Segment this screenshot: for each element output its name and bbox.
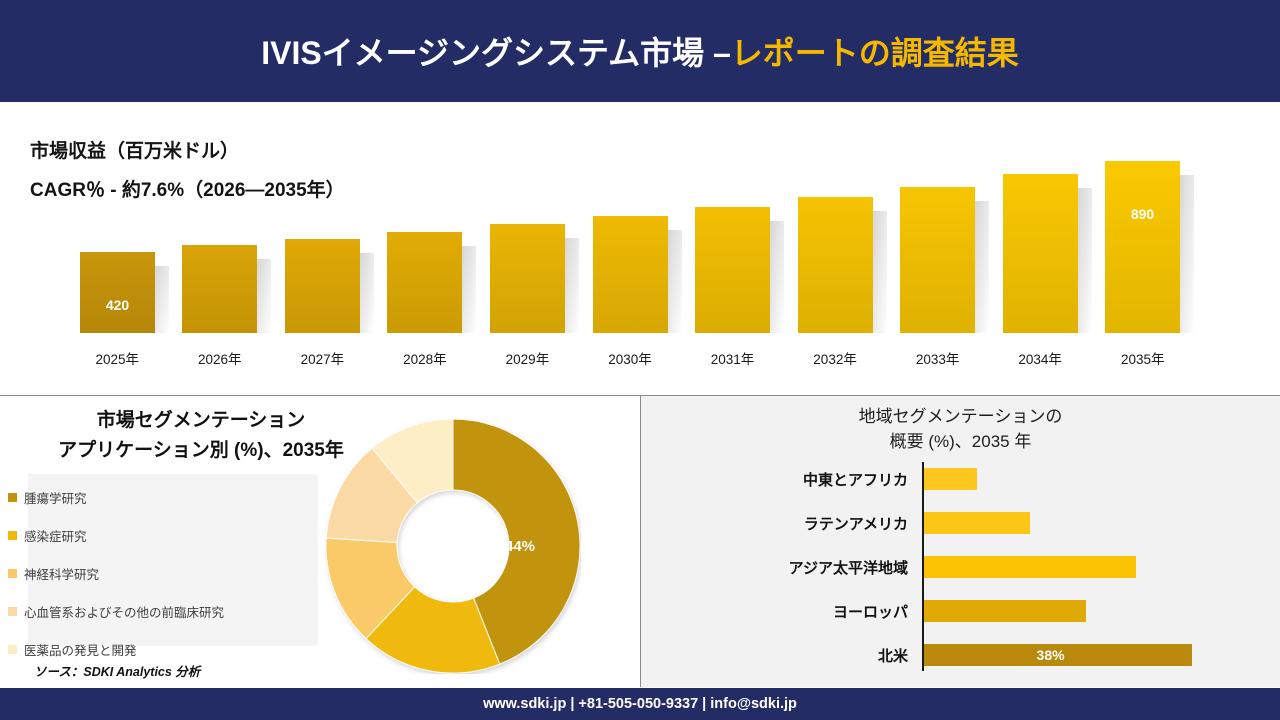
legend-swatch-icon — [8, 493, 17, 502]
bar-shadow — [565, 238, 579, 333]
bar-shadow — [1180, 175, 1194, 333]
regional-category-label: アジア太平洋地域 — [789, 557, 908, 578]
bar-shadow — [975, 201, 989, 333]
page-title-accent: レポートの調査結果 — [731, 28, 1019, 74]
regional-category-label: 北米 — [878, 645, 908, 666]
revenue-bar — [285, 239, 360, 333]
donut-center-value-label: 44% — [505, 538, 535, 555]
legend-item-label: 腫瘍学研究 — [24, 488, 87, 507]
bar-shadow — [155, 266, 169, 333]
revenue-category-label: 2028年 — [374, 348, 477, 368]
bar-shadow — [668, 230, 682, 333]
legend-item: 腫瘍学研究 — [8, 488, 87, 507]
revenue-bar — [1003, 174, 1078, 333]
revenue-bar: 890 — [1105, 161, 1180, 333]
revenue-bar — [182, 245, 257, 333]
segmentation-title-line1: 市場セグメンテーション — [36, 406, 366, 436]
legend-swatch-icon — [8, 531, 17, 540]
regional-title-line1: 地域セグメンテーションの — [641, 404, 1280, 429]
donut-svg — [325, 418, 581, 674]
revenue-category-label: 2025年 — [66, 348, 169, 368]
revenue-bar — [593, 216, 668, 333]
regional-segmentation-panel: 地域セグメンテーションの 概要 (%)、2035 年 中東とアフリカラテンアメリ… — [641, 396, 1280, 687]
revenue-category-label: 2034年 — [989, 348, 1092, 368]
segmentation-title: 市場セグメンテーション アプリケーション別 (%)、2035年 — [36, 406, 366, 466]
revenue-category-label: 2029年 — [476, 348, 579, 368]
regional-title-line2: 概要 (%)、2035 年 — [641, 429, 1280, 454]
revenue-bar-value: 890 — [1105, 206, 1180, 222]
regional-bar — [924, 556, 1136, 578]
bar-shadow — [1078, 188, 1092, 333]
legend-item-label: 心血管系およびその他の前臨床研究 — [24, 602, 224, 621]
bar-shadow — [770, 221, 784, 333]
legend-item-label: 医薬品の発見と開発 — [24, 640, 137, 659]
legend-swatch-icon — [8, 645, 17, 654]
legend-swatch-icon — [8, 569, 17, 578]
regional-bar-value: 38% — [1037, 647, 1065, 663]
revenue-category-label: 2033年 — [886, 348, 989, 368]
page-title: IVISイメージングシステム市場 – レポートの調査結果 — [0, 0, 1280, 102]
revenue-category-label: 2035年 — [1091, 348, 1194, 368]
regional-title: 地域セグメンテーションの 概要 (%)、2035 年 — [641, 404, 1280, 454]
legend-item-label: 感染症研究 — [24, 526, 87, 545]
source-note: ソース：SDKI Analytics 分析 — [34, 661, 200, 680]
revenue-bar — [798, 197, 873, 333]
legend-item: 神経科学研究 — [8, 564, 99, 583]
regional-bar — [924, 600, 1086, 622]
revenue-bar — [900, 187, 975, 333]
bar-shadow — [873, 211, 887, 333]
revenue-category-label: 2030年 — [579, 348, 682, 368]
market-revenue-column-chart: 4202025年2026年2027年2028年2029年2030年2031年20… — [0, 102, 1280, 392]
regional-bar — [924, 468, 977, 490]
bar-shadow — [257, 259, 271, 333]
page-title-main: IVISイメージングシステム市場 – — [261, 28, 731, 74]
legend-item-label: 神経科学研究 — [24, 564, 99, 583]
legend-item: 医薬品の発見と開発 — [8, 640, 137, 659]
revenue-category-label: 2026年 — [169, 348, 272, 368]
revenue-category-label: 2027年 — [271, 348, 374, 368]
regional-bar — [924, 512, 1030, 534]
regional-category-label: 中東とアフリカ — [803, 469, 908, 490]
bar-shadow — [360, 253, 374, 333]
revenue-bar: 420 — [80, 252, 155, 333]
legend-item: 感染症研究 — [8, 526, 87, 545]
bar-shadow — [462, 246, 476, 333]
legend-swatch-icon — [8, 607, 17, 616]
revenue-bar — [387, 232, 462, 333]
footer-contact: www.sdki.jp | +81-505-050-9337 | info@sd… — [0, 688, 1280, 720]
revenue-bar — [490, 224, 565, 333]
regional-category-label: ヨーロッパ — [833, 601, 908, 622]
infographic-canvas: IVISイメージングシステム市場 – レポートの調査結果 市場収益（百万米ドル）… — [0, 0, 1280, 720]
application-segmentation-panel: 市場セグメンテーション アプリケーション別 (%)、2035年 腫瘍学研究感染症… — [0, 396, 640, 687]
revenue-category-label: 2031年 — [681, 348, 784, 368]
revenue-bar-value: 420 — [80, 297, 155, 313]
segmentation-title-line2: アプリケーション別 (%)、2035年 — [36, 436, 366, 466]
application-donut-chart — [325, 418, 581, 674]
revenue-bar — [695, 207, 770, 333]
regional-category-label: ラテンアメリカ — [804, 513, 908, 534]
revenue-category-label: 2032年 — [784, 348, 887, 368]
legend-item: 心血管系およびその他の前臨床研究 — [8, 602, 224, 621]
